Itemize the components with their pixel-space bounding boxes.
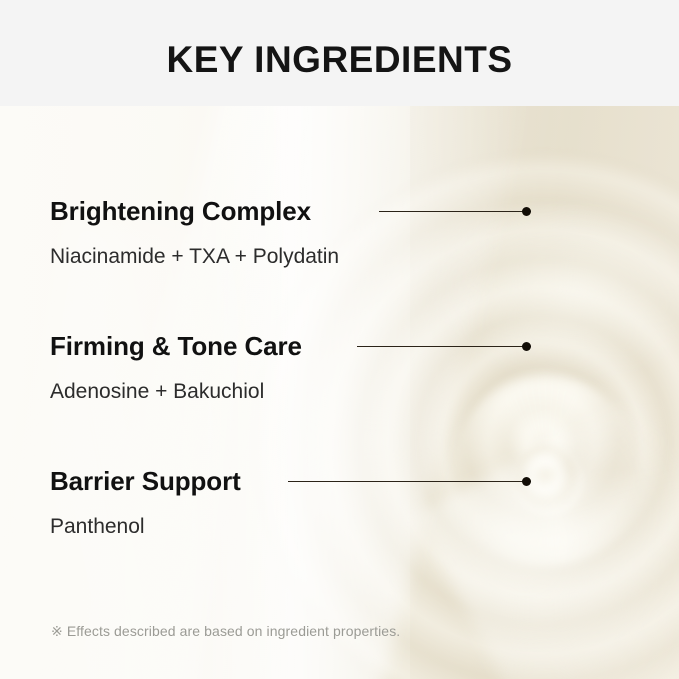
page-title: KEY INGREDIENTS — [0, 38, 679, 82]
ingredient-subtext-1: Niacinamide + TXA + Polydatin — [50, 226, 339, 270]
connector-rule-3 — [288, 481, 531, 482]
ingredient-group-1: Brightening Complex Niacinamide + TXA + … — [50, 196, 339, 270]
connector-dot-1 — [522, 207, 531, 216]
connector-dot-2 — [522, 342, 531, 351]
ingredient-subtext-3: Panthenol — [50, 496, 241, 540]
connector-dot-3 — [522, 477, 531, 486]
header-band: KEY INGREDIENTS — [0, 0, 679, 106]
key-ingredients-infographic: KEY INGREDIENTS Brightening Complex Niac… — [0, 0, 679, 679]
connector-line-3 — [288, 477, 531, 486]
connector-line-1 — [379, 207, 531, 216]
ingredient-subtext-2: Adenosine + Bakuchiol — [50, 361, 302, 405]
ingredient-heading-3: Barrier Support — [50, 466, 241, 496]
connector-rule-2 — [357, 346, 531, 347]
connector-line-2 — [357, 342, 531, 351]
connector-rule-1 — [379, 211, 531, 212]
ingredient-group-3: Barrier Support Panthenol — [50, 466, 241, 540]
ingredient-heading-2: Firming & Tone Care — [50, 331, 302, 361]
ingredient-heading-1: Brightening Complex — [50, 196, 339, 226]
footnote-disclaimer: ※ Effects described are based on ingredi… — [51, 623, 400, 640]
ingredient-group-2: Firming & Tone Care Adenosine + Bakuchio… — [50, 331, 302, 405]
